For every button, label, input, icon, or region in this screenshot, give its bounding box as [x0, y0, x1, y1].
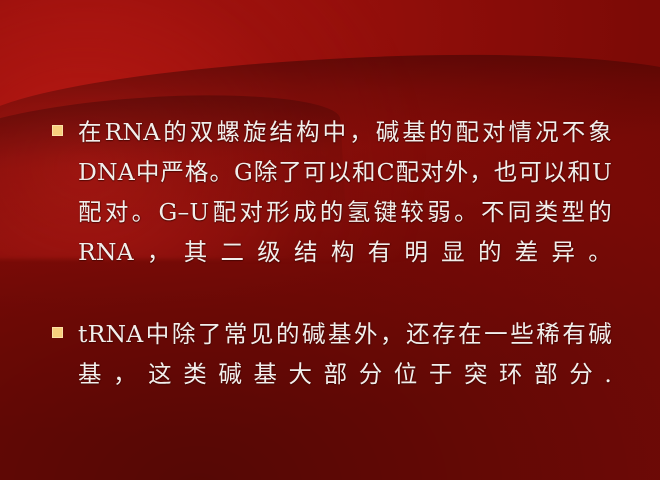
square-bullet-icon: [52, 125, 63, 136]
square-bullet-icon: [52, 327, 63, 338]
slide-body: 在RNA的双螺旋结构中，碱基的配对情况不象DNA中严格。G除了可以和C配对外，也…: [52, 112, 612, 436]
bullet-item-text: tRNA中除了常见的碱基外，还存在一些稀有碱基，这类碱基大部分位于突环部分.: [78, 314, 612, 434]
bullet-item-text: 在RNA的双螺旋结构中，碱基的配对情况不象DNA中严格。G除了可以和C配对外，也…: [78, 112, 612, 312]
bullet-item: 在RNA的双螺旋结构中，碱基的配对情况不象DNA中严格。G除了可以和C配对外，也…: [52, 112, 612, 312]
presentation-slide: 在RNA的双螺旋结构中，碱基的配对情况不象DNA中严格。G除了可以和C配对外，也…: [0, 0, 660, 480]
bullet-item: tRNA中除了常见的碱基外，还存在一些稀有碱基，这类碱基大部分位于突环部分.: [52, 314, 612, 434]
